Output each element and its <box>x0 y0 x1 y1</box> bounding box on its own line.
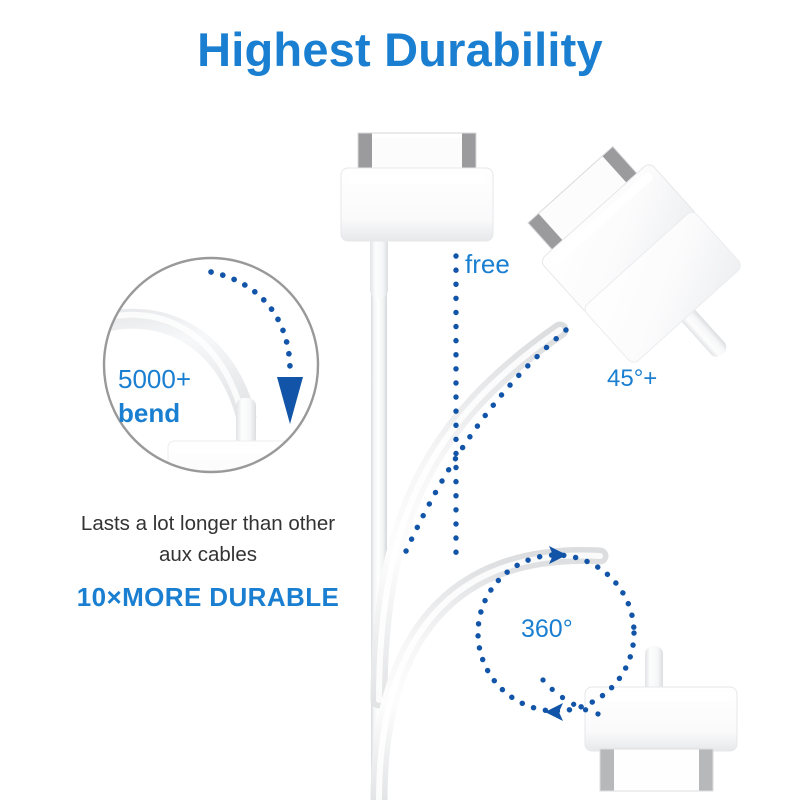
curved-arrow-icon-bend <box>211 272 303 424</box>
label-bend-count: 5000+ <box>118 364 191 395</box>
caption-line-1: Lasts a lot longer than other <box>48 508 368 539</box>
caption-line-2: aux cables <box>48 539 368 570</box>
dotted-line-icon-360-tail <box>543 680 607 716</box>
label-rotation-360: 360° <box>521 615 573 644</box>
page-title: Highest Durability <box>0 22 800 77</box>
branch-cable-360deg <box>379 556 600 800</box>
durability-tagline: 10×MORE DURABLE <box>48 582 368 613</box>
branch-cable-45deg <box>379 330 560 700</box>
durability-caption: Lasts a lot longer than other aux cables <box>48 508 368 570</box>
label-free: free <box>465 249 510 280</box>
product-feature-image: Highest Durability <box>0 0 800 800</box>
dotted-line-icon-45deg <box>402 330 566 560</box>
label-angle-45: 45°+ <box>607 365 657 393</box>
arrow-down-icon <box>277 377 303 424</box>
label-bend-unit: bend <box>118 398 180 429</box>
arrow-right-icon <box>549 546 567 564</box>
main-vertical-cable <box>371 230 387 800</box>
arrow-left-icon <box>545 703 563 721</box>
